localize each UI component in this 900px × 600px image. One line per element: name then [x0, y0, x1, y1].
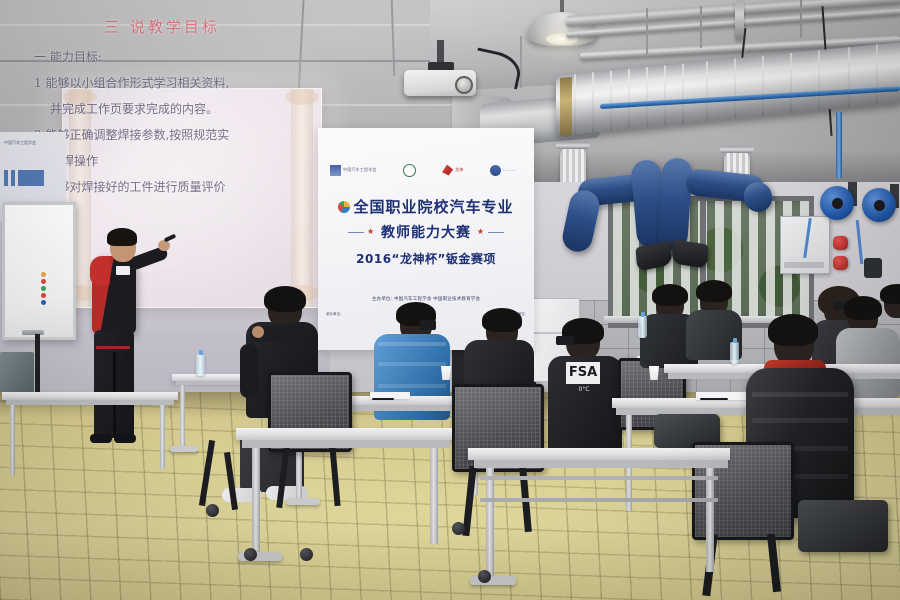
slide-line: 一 能力目标: — [34, 44, 252, 70]
table-apron — [242, 440, 450, 448]
pen[interactable] — [372, 398, 394, 400]
whiteboard-magnets — [41, 272, 48, 305]
presenter-badge — [116, 266, 130, 275]
attendee-hair — [652, 284, 688, 306]
star-icon: ★ — [477, 227, 485, 236]
caster-wheel — [244, 548, 257, 561]
presenter-shoe — [90, 434, 112, 443]
magnet-icon — [41, 286, 46, 291]
star-icon: ★ — [367, 227, 375, 236]
slide-title: 三 说教学目标 — [72, 16, 252, 37]
classroom-photo-scene: 三 说教学目标 一 能力目标: 1 能够以小组合作形式学习相关资料, 并完成工作… — [0, 0, 900, 600]
banner-subtitle-text: 教师能力大赛 — [381, 225, 471, 241]
table — [2, 392, 178, 400]
hanger-rod — [700, 6, 702, 48]
banner-title-text: 全国职业院校汽车专业 — [353, 198, 513, 216]
divider — [488, 232, 504, 233]
jacket-back-text: FSA — [566, 362, 600, 384]
slide-column-decoration — [291, 89, 313, 307]
banner-organizer: 主办单位: 中国汽车工程学会 中国职业技术教育学会 — [326, 296, 526, 302]
presenter-shoulder — [90, 256, 110, 286]
attendee-hair — [880, 284, 900, 304]
hose-reel[interactable] — [862, 188, 896, 222]
uniform-stripe — [96, 346, 130, 349]
jacket-seam — [378, 384, 446, 388]
left-banner-text: 中国汽车工程学会 — [4, 140, 36, 146]
water-bottle[interactable] — [730, 342, 739, 364]
table-foot — [170, 446, 198, 452]
presenter-shoe — [114, 434, 136, 443]
presenter-hand — [158, 240, 170, 251]
jacket-back-panel: FSA — [566, 362, 600, 384]
attendee-hair — [844, 296, 882, 320]
table-apron — [474, 460, 728, 468]
eyeglasses-icon — [420, 320, 436, 330]
table-leg — [706, 468, 714, 572]
logo-label: ········· — [503, 168, 516, 173]
water-bottle[interactable] — [638, 316, 647, 338]
slide-line: 2 能够正确调整焊接参数,按照规范实 — [34, 122, 252, 148]
cabinet-label — [784, 262, 824, 268]
magnet-icon — [41, 300, 46, 305]
fume-extraction-arm — [657, 157, 693, 251]
banner-logo-row: 中国汽车工程学会 龙神 ········· — [330, 160, 516, 180]
jacket-seam — [378, 342, 446, 346]
hanger-rod — [800, 0, 802, 38]
bag[interactable] — [798, 500, 888, 552]
puffer-seam — [752, 392, 848, 397]
caster-wheel — [300, 548, 313, 561]
table — [236, 428, 452, 440]
puffer-seam — [752, 418, 848, 423]
table-apron — [6, 400, 174, 405]
logo-mark — [442, 165, 453, 176]
hanger-rod — [646, 8, 648, 56]
divider — [348, 232, 364, 233]
attendee-hair — [482, 308, 522, 332]
table-stretcher — [480, 476, 718, 480]
blue-water-pipe-drop — [836, 112, 842, 178]
water-bottle[interactable] — [196, 354, 205, 376]
table-foot — [470, 576, 516, 585]
magnet-icon — [41, 272, 46, 277]
jacket-back-subtext: 0°C — [570, 386, 598, 393]
whiteboard[interactable] — [2, 202, 76, 340]
duct-band — [560, 77, 572, 136]
table-leg — [160, 405, 165, 469]
attendee-arm — [240, 344, 258, 398]
circle-emblem-logo — [403, 164, 416, 177]
magnet-icon — [41, 279, 46, 284]
logo-label: 中国汽车工程学会 — [343, 167, 377, 173]
reel-hub — [832, 198, 843, 209]
logo-label: 龙神 — [455, 167, 463, 173]
slide-line: 1 能够以小组合作形式学习相关资料, — [34, 70, 252, 96]
reel-hub — [874, 200, 885, 211]
logo-mark — [330, 165, 341, 176]
logo-mark — [490, 165, 501, 176]
table-leg — [180, 385, 185, 447]
slide-line: 施焊操作 — [34, 148, 252, 174]
magnet-icon — [41, 293, 46, 298]
valve[interactable] — [864, 258, 882, 278]
pen[interactable] — [700, 398, 728, 400]
attendee-hand — [252, 326, 264, 338]
globe-icon — [338, 201, 350, 213]
logo-mark — [403, 164, 416, 177]
jacket-seam — [378, 362, 446, 366]
attendee-hair — [264, 286, 306, 312]
caster-wheel — [478, 570, 491, 583]
slide-line: 并完成工作页要求完成的内容。 — [34, 96, 252, 122]
table-stretcher — [480, 498, 718, 502]
longshen-logo: 龙神 — [442, 165, 463, 176]
banner-title-line1: 全国职业院校汽车专业 — [332, 196, 520, 217]
table-leg — [430, 448, 438, 544]
table-leg — [486, 468, 494, 580]
caster-wheel — [206, 504, 219, 517]
table-foot — [286, 498, 320, 505]
sub-organizer: 承办单位: — [326, 312, 341, 317]
table-leg — [10, 405, 15, 475]
duct-collar — [556, 142, 590, 149]
whiteboard-marker-tray — [22, 330, 44, 335]
table — [468, 448, 730, 460]
left-banner-mark — [4, 170, 44, 186]
banner-title-line2: ★ 教师能力大赛 ★ — [332, 222, 520, 242]
table-leg — [252, 448, 260, 556]
slide-body: 一 能力目标: 1 能够以小组合作形式学习相关资料, 并完成工作页要求完成的内容… — [34, 44, 252, 200]
vertical-pipe — [735, 0, 744, 40]
power-socket[interactable] — [833, 236, 848, 250]
slide-line: 3 能够对焊接好的工件进行质量评价 — [34, 174, 252, 200]
slide-column-cap — [285, 89, 319, 105]
eyeglasses-icon — [556, 336, 574, 345]
hose-reel[interactable] — [820, 186, 854, 220]
attendee-hair — [768, 314, 818, 346]
attendee-hair — [696, 280, 732, 302]
caster-wheel — [452, 522, 465, 535]
hanger-rod — [520, 36, 522, 88]
university-logo: ········· — [490, 165, 516, 176]
banner-title-line3: 2016“龙神杯”钣金赛项 — [330, 250, 522, 267]
duct-collar — [720, 146, 754, 153]
presenter-hair — [107, 228, 137, 246]
power-socket[interactable] — [833, 256, 848, 270]
china-sae-logo: 中国汽车工程学会 — [330, 165, 377, 176]
